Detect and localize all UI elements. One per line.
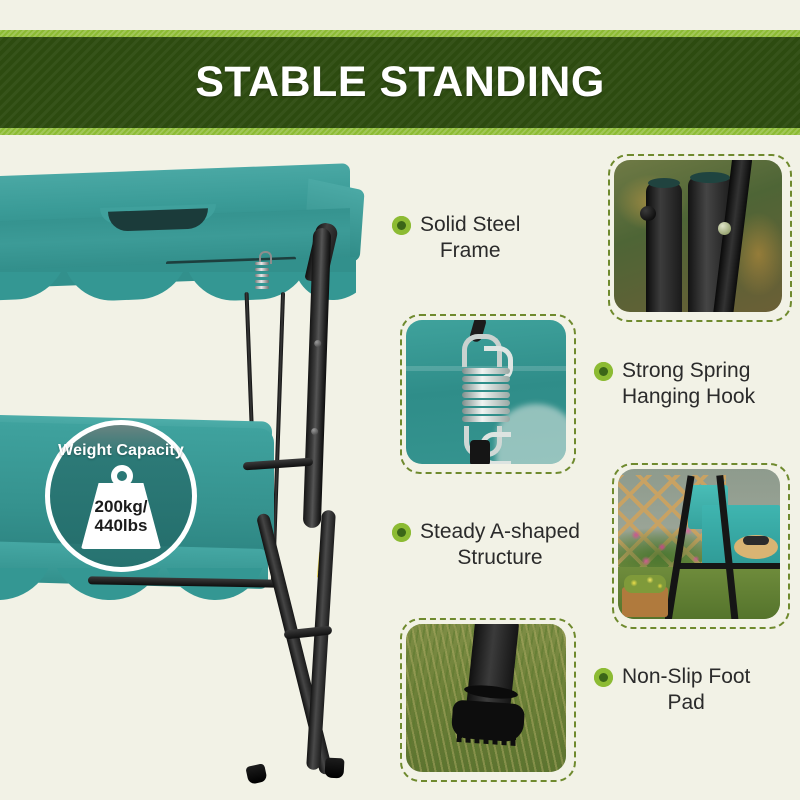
weight-capacity-label: Weight Capacity xyxy=(58,442,184,460)
feature-text-line2: Structure xyxy=(457,546,542,569)
swing-seat xyxy=(702,505,780,567)
hook-bracket xyxy=(470,440,490,464)
feature-text-line1: Non-Slip Foot xyxy=(622,665,750,688)
feature-text-line2: Frame xyxy=(440,239,501,262)
bullet-icon xyxy=(392,523,411,542)
feature-steady-a-shaped-structure: Steady A-shaped Structure xyxy=(392,465,792,625)
steel-tube xyxy=(646,182,682,312)
spring-coils xyxy=(462,368,510,430)
flower-pot xyxy=(622,587,668,617)
feature-label-strong-spring-hanging-hook: Strong Spring Hanging Hook xyxy=(594,358,794,410)
canopy-spring-hook xyxy=(255,260,269,294)
straw-hat xyxy=(734,535,778,559)
bullet-icon xyxy=(594,362,613,381)
frame-bolt xyxy=(311,428,318,435)
feature-label-solid-steel-frame: Solid Steel Frame xyxy=(392,212,582,264)
bullet-icon xyxy=(594,668,613,687)
weight-value-kg: 200kg/ xyxy=(95,497,148,516)
bullet-icon xyxy=(392,216,411,235)
feature-text-line1: Strong Spring xyxy=(622,359,750,382)
banner-body: STABLE STANDING xyxy=(0,37,800,128)
feature-strong-spring-hanging-hook: Strong Spring Hanging Hook xyxy=(404,318,794,468)
knob-icon xyxy=(640,206,656,221)
steel-frame-photo xyxy=(614,160,782,312)
feature-solid-steel-frame: Solid Steel Frame xyxy=(392,158,792,318)
weight-value-lbs: 440lbs xyxy=(95,516,148,535)
header-banner: STABLE STANDING xyxy=(0,30,800,135)
frame-bolt xyxy=(314,340,321,347)
canopy-scalloped-edge xyxy=(0,272,356,312)
tube-cap xyxy=(648,178,680,188)
weight-icon: 200kg/ 440lbs xyxy=(73,465,169,551)
feature-text-line2: Hanging Hook xyxy=(622,385,755,408)
page-title: STABLE STANDING xyxy=(195,58,605,107)
a-frame-garden-photo xyxy=(618,469,780,619)
foot-pad-photo xyxy=(406,624,566,772)
weight-body: 200kg/ 440lbs xyxy=(81,483,161,549)
feature-label-steady-a-shaped-structure: Steady A-shaped Structure xyxy=(392,519,592,571)
non-slip-pad xyxy=(451,700,525,743)
infographic-page: STABLE STANDING xyxy=(0,0,800,800)
banner-bottom-stripe xyxy=(0,128,800,135)
feature-text-line1: Steady A-shaped xyxy=(420,520,580,543)
feature-text-line1: Solid Steel xyxy=(420,213,520,236)
foot-pad-left xyxy=(245,763,267,785)
screw-icon xyxy=(718,222,731,235)
feature-label-non-slip-foot-pad: Non-Slip Foot Pad xyxy=(594,664,794,716)
weight-capacity-badge: Weight Capacity 200kg/ 440lbs xyxy=(45,420,197,572)
feature-non-slip-foot-pad: Non-Slip Foot Pad xyxy=(404,622,794,778)
foot-pad-right xyxy=(324,758,344,779)
feature-text-line2: Pad xyxy=(668,691,705,714)
spring-hook-photo xyxy=(406,320,566,464)
seat-scalloped-edge xyxy=(0,568,272,616)
tube-cap xyxy=(690,172,730,183)
banner-top-stripe xyxy=(0,30,800,37)
a-frame-leg-right xyxy=(306,510,336,770)
